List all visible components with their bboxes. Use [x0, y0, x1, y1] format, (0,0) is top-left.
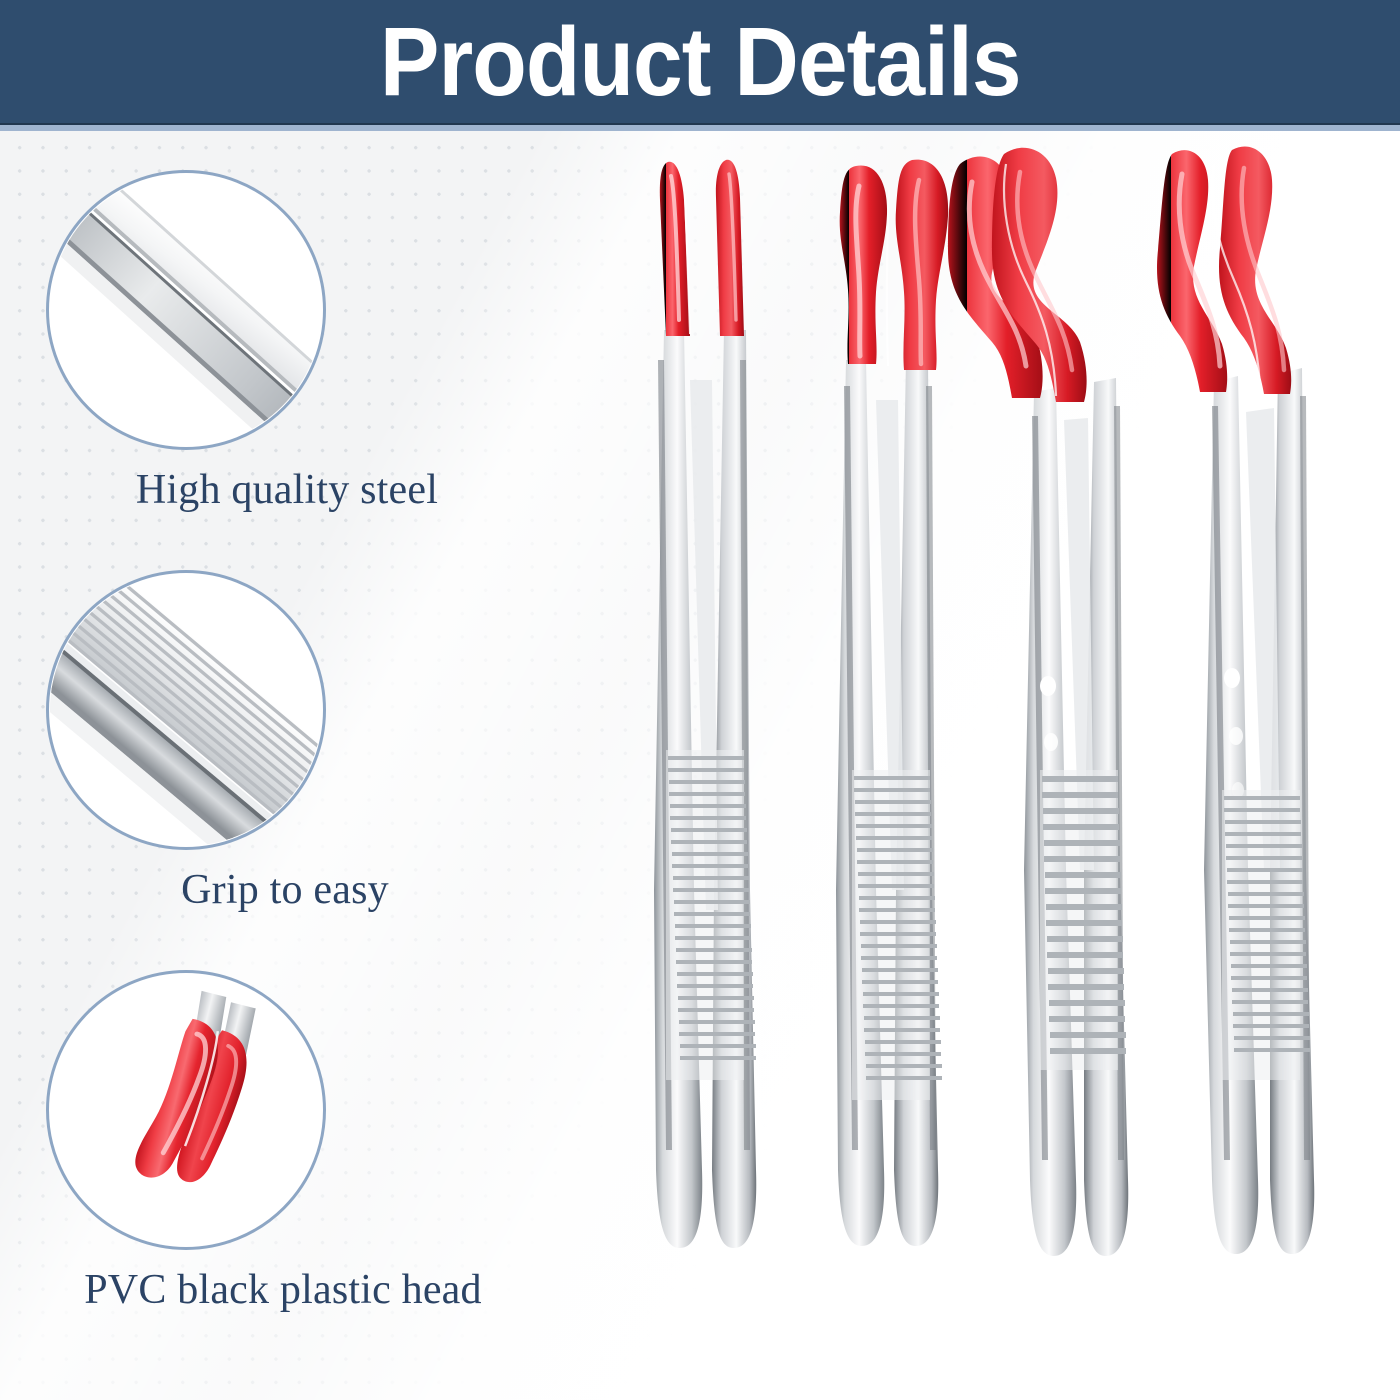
feature-callout-high-quality-steel: High quality steel	[0, 170, 560, 514]
tweezer-pointed-tip	[654, 160, 756, 1248]
tweezer-angled-tip	[1157, 147, 1314, 1254]
page-title: Product Details	[380, 13, 1021, 110]
tip-rounded-left	[840, 165, 887, 364]
feature-label-high-quality-steel: High quality steel	[0, 466, 560, 514]
tweezer-rounded-tip	[836, 160, 948, 1246]
pivot-hole	[1224, 668, 1240, 688]
page-header: Product Details	[0, 0, 1400, 123]
feature-bubble-high-quality-steel	[46, 170, 326, 450]
feature-bubble-grip-to-easy	[46, 570, 326, 850]
steel-tip-closeup-icon	[49, 173, 323, 447]
tweezer-bent-tip	[948, 148, 1128, 1256]
feature-bubble-pvc-plastic-head	[46, 970, 326, 1250]
feature-callout-list: High quality steel	[0, 150, 560, 1340]
feature-label-pvc-plastic-head: PVC black plastic head	[0, 1266, 560, 1314]
product-image-area	[540, 130, 1400, 1400]
pivot-hole	[1044, 733, 1058, 751]
pivot-hole	[1040, 676, 1056, 696]
product-details-page: Product Details	[0, 0, 1400, 1400]
tweezers-set-illustration	[540, 130, 1400, 1400]
feature-label-grip-to-easy: Grip to easy	[0, 866, 560, 914]
feature-callout-pvc-plastic-head: PVC black plastic head	[0, 970, 560, 1314]
serrated-grip-closeup-icon	[49, 573, 323, 847]
feature-callout-grip-to-easy: Grip to easy	[0, 570, 560, 914]
pivot-hole	[1229, 727, 1243, 745]
red-pvc-tip-closeup-icon	[49, 973, 323, 1247]
